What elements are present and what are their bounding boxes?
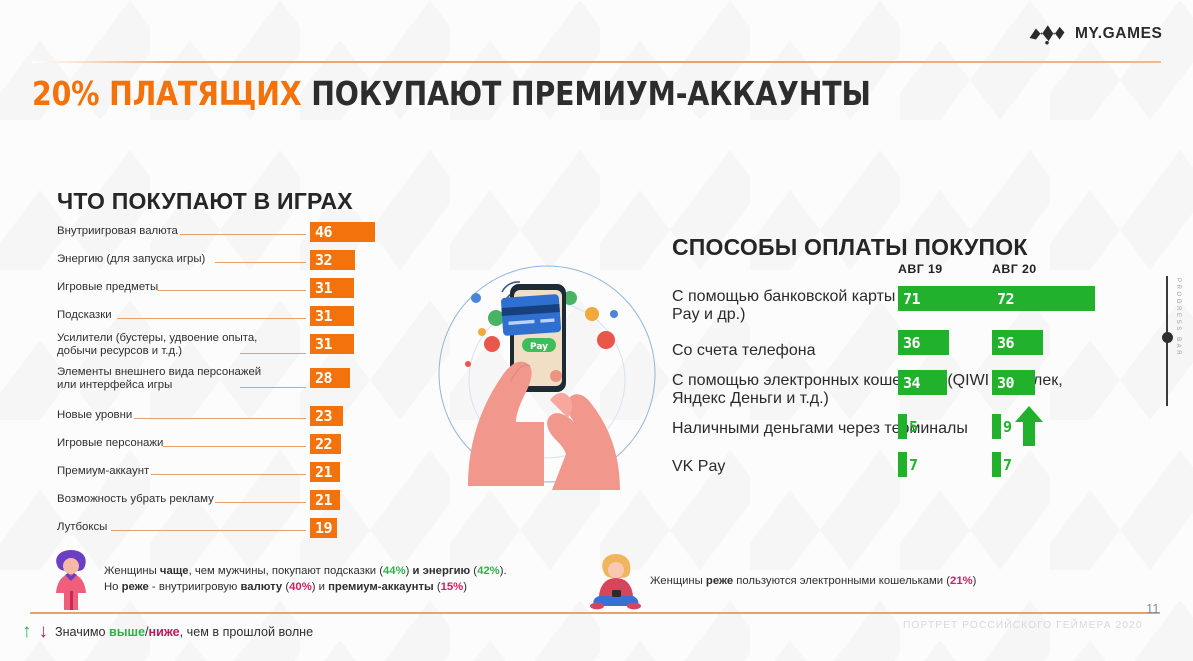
left-chart-row-label: Элементы внешнего вида персонажей или ин… [57,366,261,392]
source-note: ПОРТРЕТ РОССИЙСКОГО ГЕЙМЕРА 2020 [903,620,1143,631]
left-chart-value: 21 [310,491,332,509]
left-chart-leader-line [180,234,306,235]
significance-legend: ↑ ↓ Значимо выше/ниже, чем в прошлой вол… [22,622,313,641]
left-chart-bar: 31 [310,278,354,298]
left-chart-value: 22 [310,435,332,453]
page-number: 11 [1146,601,1160,616]
title-rest: ПОКУПАЮТ ПРЕМИУМ-АККАУНТЫ [311,74,870,113]
column-header-aug20: АВГ 20 [992,262,1037,276]
left-chart-row-label: Лутбоксы [57,521,107,534]
right-chart-row-label: Наличными деньгами через терминалы [672,420,968,438]
right-chart-value: 36 [898,334,920,352]
left-chart-heading: ЧТО ПОКУПАЮТ В ИГРАХ [57,188,353,215]
right-chart-value: 34 [898,374,920,392]
footnote-women-wallets: Женщины реже пользуются электронными кош… [650,574,1070,590]
page-number-divider [858,612,1138,614]
right-chart-value: 7 [909,456,918,474]
left-chart-leader-line [157,290,306,291]
arrow-up-icon: ↑ [22,622,32,641]
left-chart-bar: 21 [310,462,340,482]
left-bar-chart: Внутриигровая валюта46Энергию (для запус… [57,222,387,542]
left-chart-row-label: Подсказки [57,309,112,322]
left-chart-value: 21 [310,463,332,481]
footnote-women-buy-more: Женщины чаще, чем мужчины, покупают подс… [104,564,574,595]
left-chart-value: 31 [310,307,332,325]
right-chart-value: 72 [992,290,1014,308]
left-chart-leader-line [117,318,306,319]
right-bar-chart: АВГ 19 АВГ 20 С помощью банковской карты… [672,262,1092,492]
left-chart-row-label: Усилители (бустеры, удвоение опыта, добы… [57,332,257,358]
left-chart-bar: 22 [310,434,341,454]
left-chart-leader-line [215,262,307,263]
left-chart-row-label: Новые уровни [57,409,132,422]
right-chart-bar: 36 [898,330,949,355]
left-chart-bar: 31 [310,306,354,326]
left-chart-row-label: Игровые предметы [57,281,158,294]
right-chart-value: 30 [992,374,1014,392]
arrow-up-icon [1014,404,1044,448]
column-header-aug19: АВГ 19 [898,262,943,276]
right-chart-bar: 7 [898,452,907,477]
left-chart-value: 32 [310,251,332,269]
right-chart-value: 5 [909,418,918,436]
left-chart-value: 31 [310,279,332,297]
right-chart-bar: 9 [992,414,1001,439]
right-chart-bar: 30 [992,370,1035,395]
left-chart-value: 46 [310,223,332,241]
right-chart-row-label: VK Pay [672,458,725,476]
right-chart-bar: 36 [992,330,1043,355]
left-chart-value: 28 [310,369,332,387]
left-chart-bar: 21 [310,490,340,510]
page-title: 20% ПЛАТЯЩИХ ПОКУПАЮТ ПРЕМИУМ-АККАУНТЫ [32,75,871,113]
left-chart-value: 31 [310,335,332,353]
title-highlight: 20% ПЛАТЯЩИХ [32,74,302,113]
left-chart-row-label: Возможность убрать рекламу [57,493,214,506]
left-chart-row-label: Игровые персонажи [57,437,163,450]
left-chart-bar: 32 [310,250,355,270]
left-chart-leader-line [240,387,306,388]
footnote-line-2: Но реже - внутриигровую валюту (40%) и п… [104,580,574,596]
mygames-zigzag-logo-icon [1028,22,1066,46]
left-chart-leader-line [163,446,306,447]
left-chart-leader-line [151,474,306,475]
left-chart-value: 19 [310,519,332,537]
svg-text:Pay: Pay [530,342,548,352]
left-chart-row-label: Энергию (для запуска игры) [57,253,205,266]
left-chart-leader-line [134,418,306,419]
footnote-line-1: Женщины чаще, чем мужчины, покупают подс… [104,564,574,580]
right-chart-value: 71 [898,290,920,308]
left-chart-bar: 19 [310,518,337,538]
progress-knob[interactable] [1162,332,1173,343]
left-chart-leader-line [111,530,306,531]
left-chart-bar: 46 [310,222,375,242]
right-chart-bar: 72 [992,286,1095,311]
right-chart-heading: СПОСОБЫ ОПЛАТЫ ПОКУПОК [672,234,1028,261]
header-divider [32,61,1161,63]
right-chart-bar: 7 [992,452,1001,477]
right-chart-row-label: Со счета телефона [672,342,815,360]
brand-logo: MY.GAMES [1028,22,1162,46]
woman-standing-illustration [48,549,94,611]
right-chart-value: 36 [992,334,1014,352]
left-chart-row-label: Премиум-аккаунт [57,465,149,478]
woman-sitting-illustration [587,552,643,610]
left-chart-value: 23 [310,407,332,425]
arrow-down-icon: ↓ [39,622,49,641]
left-chart-bar: 31 [310,334,354,354]
left-chart-bar: 23 [310,406,343,426]
right-chart-value: 7 [1003,456,1012,474]
left-chart-bar: 28 [310,368,350,388]
left-chart-leader-line [215,502,307,503]
brand-name: MY.GAMES [1075,25,1162,43]
right-chart-bar: 71 [898,286,1000,311]
left-chart-leader-line [240,353,306,354]
right-chart-bar: 5 [898,414,907,439]
progress-bar[interactable]: PROGRESS BAR [1158,276,1186,406]
right-chart-bar: 34 [898,370,947,395]
progress-label: PROGRESS BAR [1175,278,1181,357]
hands-holding-phone-illustration: Pay [424,252,670,500]
legend-text: Значимо выше/ниже, чем в прошлой волне [55,625,313,639]
left-chart-row-label: Внутриигровая валюта [57,225,178,238]
right-chart-value: 9 [1003,418,1012,436]
